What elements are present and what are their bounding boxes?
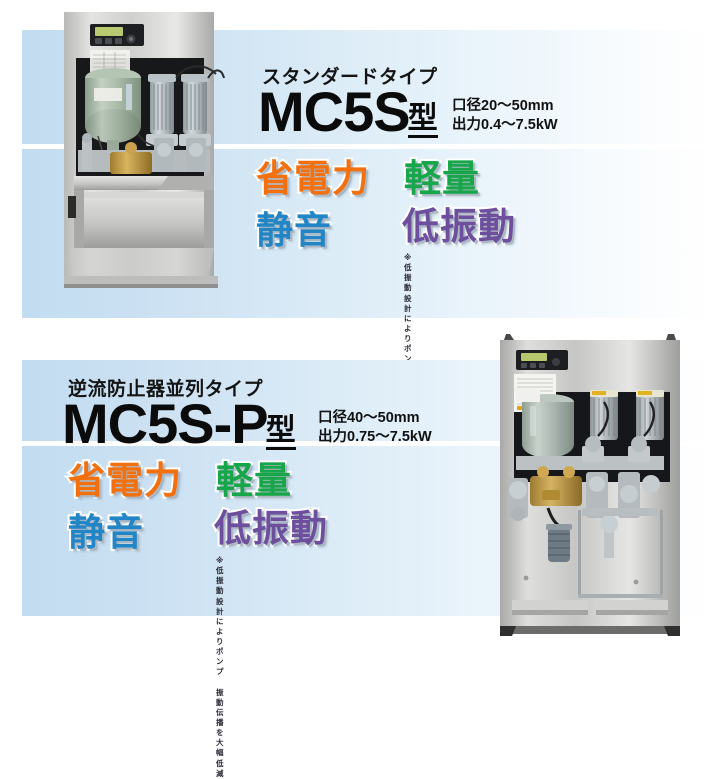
panel1-feature-quiet: 静音 <box>256 212 332 249</box>
panel2-feature-energy-saving: 省電力 <box>68 462 182 499</box>
product-photo-mc5s <box>38 0 238 320</box>
panel1-model-main: MC5S <box>258 84 410 140</box>
panel2-spec-output: 出力0.75〜7.5kW <box>318 428 432 447</box>
panel2-note: ※低振動設計によりポンプ 振動伝播を大幅低減 <box>216 556 224 779</box>
panel1-model-suffix: 型 <box>408 104 438 138</box>
panel2-spec-block: 口径40〜50mm 出力0.75〜7.5kW <box>318 409 432 447</box>
panel2-spec-diameter: 口径40〜50mm <box>318 409 432 428</box>
panel1-model-name: MC5S 型 <box>258 84 438 140</box>
panel2-model-suffix: 型 <box>266 416 296 450</box>
panel2-feature-lightweight: 軽量 <box>216 462 292 499</box>
panel2-feature-low-vibration: 低振動 <box>214 510 328 547</box>
panel2-model-name: MC5S-P 型 <box>62 396 296 452</box>
product-photo-mc5s-p <box>486 332 702 650</box>
panel1-feature-low-vibration: 低振動 <box>402 208 516 245</box>
pump-unit-illustration-parallel <box>486 332 702 650</box>
panel1-feature-lightweight: 軽量 <box>404 160 480 197</box>
panel1-feature-energy-saving: 省電力 <box>256 160 370 197</box>
panel1-spec-output: 出力0.4〜7.5kW <box>452 116 558 135</box>
panel2-feature-quiet: 静音 <box>68 514 144 551</box>
pump-unit-illustration <box>38 0 238 320</box>
panel1-spec-diameter: 口径20〜50mm <box>452 97 558 116</box>
panel2-model-main: MC5S-P <box>62 396 268 452</box>
panel1-spec-block: 口径20〜50mm 出力0.4〜7.5kW <box>452 97 558 135</box>
